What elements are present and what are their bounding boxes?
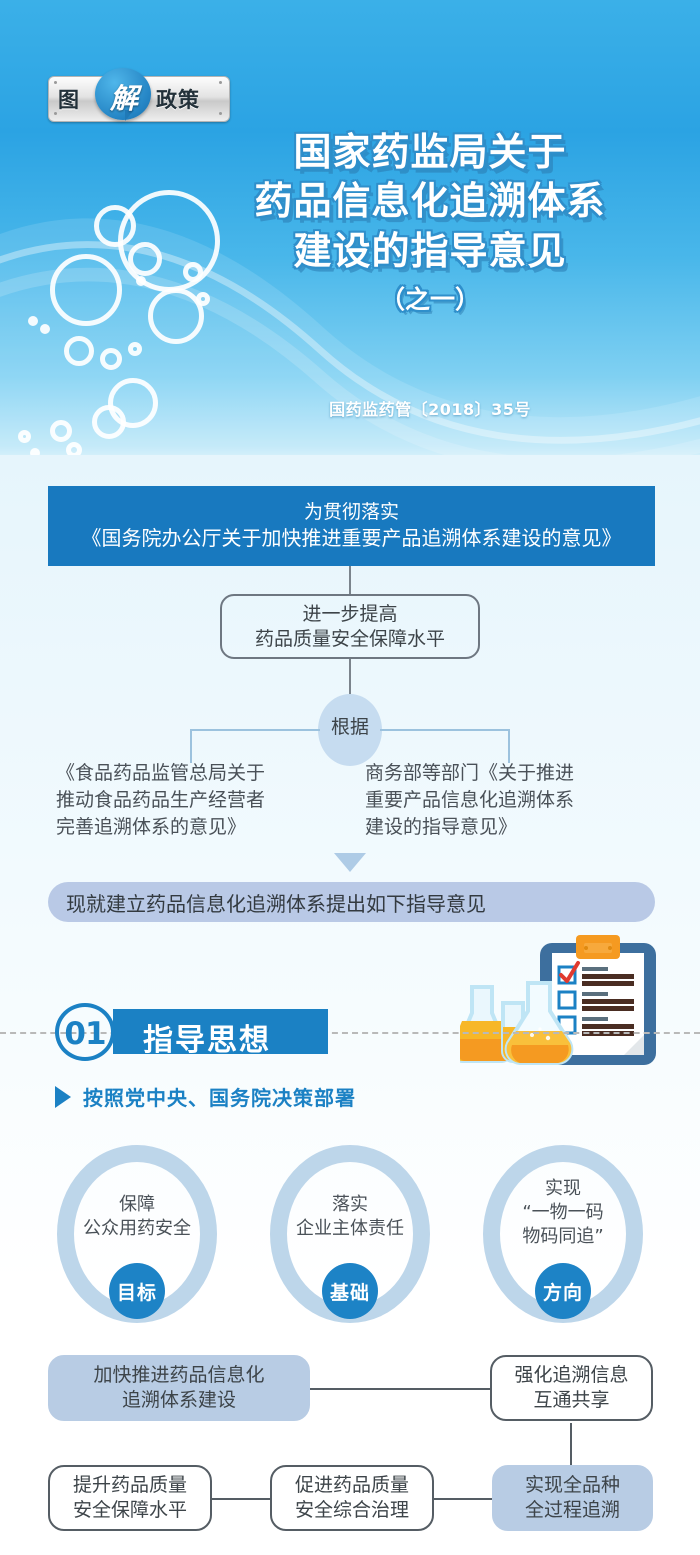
bubble-decoration [92,405,126,439]
circle-3-line-1: 实现 [483,1177,643,1201]
bubble-decoration [100,348,122,370]
branch-drop-left [190,729,192,763]
reference-document-2: 商务部等部门《关于推进 重要产品信息化追溯体系 建设的指导意见》 [365,760,665,841]
infographic-page: 图 政策 解 国家药监局关于 药品信息化追溯体系 建设的指导意见 （之一） 国药… [0,0,700,1555]
circle-badge-1: 目标 [109,1263,165,1319]
outcome-5-line-2: 全过程追溯 [525,1498,620,1523]
goal-box: 进一步提高 药品质量安全保障水平 [220,594,480,659]
circle-text-1: 保障 公众用药安全 [57,1193,217,1241]
content-body: 为贯彻落实 《国务院办公厅关于加快推进重要产品追溯体系建设的意见》 进一步提高 … [0,455,700,1555]
outcome-2-line-2: 互通共享 [514,1388,628,1413]
goal-box-line-1: 进一步提高 [255,602,445,627]
bubble-decoration [136,276,146,286]
section-bullet: 按照党中央、国务院决策部署 [55,1082,356,1111]
branch-line-left [190,729,320,731]
outcome-3-line-2: 安全保障水平 [73,1498,187,1523]
circle-text-2: 落实 企业主体责任 [270,1193,430,1241]
section-title: 指导思想 [143,1015,323,1059]
circle-1-line-2: 公众用药安全 [57,1217,217,1241]
conclusion-banner-text: 现就建立药品信息化追溯体系提出如下指导意见 [66,888,486,917]
circle-1-line-1: 保障 [57,1193,217,1217]
bubble-decoration [128,342,142,356]
connector-line [349,566,351,594]
circle-badge-2-label: 基础 [330,1278,370,1305]
circle-3-line-3: 物码同追” [483,1225,643,1249]
circle-text-3: 实现 “一物一码 物码同追” [483,1177,643,1248]
page-title-line-3: 建设的指导意见 [180,227,680,276]
logo-text-left: 图 [58,84,80,114]
tujie-zhengce-logo: 图 政策 解 [48,76,228,120]
outcome-box-4: 促进药品质量 安全综合治理 [270,1465,434,1531]
logo-screw [219,112,222,115]
lab-clipboard-illustration [460,935,670,1075]
logo-screw [54,112,57,115]
outcome-4-line-2: 安全综合治理 [295,1498,409,1523]
outcome-box-2: 强化追溯信息 互通共享 [490,1355,653,1421]
intent-banner: 为贯彻落实 《国务院办公厅关于加快推进重要产品追溯体系建设的意见》 [48,486,655,566]
outcome-connector-h2 [212,1498,272,1500]
bubble-decoration [64,336,94,366]
page-title: 国家药监局关于 药品信息化追溯体系 建设的指导意见 （之一） [180,128,680,316]
triangle-bullet-icon [55,1086,71,1108]
outcome-5-line-1: 实现全品种 [525,1473,620,1498]
section-bullet-text: 按照党中央、国务院决策部署 [83,1082,356,1111]
page-subtitle: （之一） [180,280,680,316]
outcome-1-line-1: 加快推进药品信息化 [93,1363,264,1388]
conclusion-banner: 现就建立药品信息化追溯体系提出如下指导意见 [48,882,655,922]
reference-2-line-1: 商务部等部门《关于推进 [365,760,665,787]
reference-2-line-2: 重要产品信息化追溯体系 [365,787,665,814]
bubble-decoration [40,324,50,334]
logo-text-bubble: 解 [105,77,143,117]
circle-badge-3-label: 方向 [543,1278,583,1305]
goal-box-line-2: 药品质量安全保障水平 [255,627,445,652]
bubble-decoration [28,316,38,326]
reference-2-line-3: 建设的指导意见》 [365,814,665,841]
outcome-box-3: 提升药品质量 安全保障水平 [48,1465,212,1531]
document-number: 国药监药管〔2018〕35号 [180,396,680,420]
outcome-1-line-2: 追溯体系建设 [93,1388,264,1413]
logo-text-right: 政策 [156,84,200,114]
circle-badge-2: 基础 [322,1263,378,1319]
bubble-decoration [94,205,136,247]
outcome-connector-h3 [434,1498,494,1500]
bubble-decoration [50,254,122,326]
page-title-line-1: 国家药监局关于 [180,128,680,177]
reference-document-1: 《食品药品监管总局关于 推动食品药品生产经营者 完善追溯体系的意见》 [56,760,356,841]
reference-1-line-3: 完善追溯体系的意见》 [56,814,356,841]
section-number: 01 [59,1016,111,1052]
intent-banner-line-2: 《国务院办公厅关于加快推进重要产品追溯体系建设的意见》 [82,525,622,552]
hero-header: 图 政策 解 国家药监局关于 药品信息化追溯体系 建设的指导意见 （之一） 国药… [0,0,700,470]
section-number-circle: 01 [55,1003,115,1061]
basis-label: 根据 [318,712,382,739]
outcome-3-line-1: 提升药品质量 [73,1473,187,1498]
outcome-connector-v1 [570,1423,572,1471]
circle-2-line-1: 落实 [270,1193,430,1217]
outcome-4-line-1: 促进药品质量 [295,1473,409,1498]
outcome-connector-h1 [310,1388,490,1390]
page-title-line-2: 药品信息化追溯体系 [180,177,680,226]
bubble-decoration [18,430,31,443]
reference-1-line-1: 《食品药品监管总局关于 [56,760,356,787]
bubble-decoration [128,242,162,276]
circle-badge-1-label: 目标 [117,1278,157,1305]
outcome-box-5: 实现全品种 全过程追溯 [492,1465,653,1531]
reference-1-line-2: 推动食品药品生产经营者 [56,787,356,814]
branch-line-right [380,729,510,731]
circle-3-line-2: “一物一码 [483,1201,643,1225]
outcome-2-line-1: 强化追溯信息 [514,1363,628,1388]
branch-drop-right [508,729,510,763]
logo-screw [54,81,57,84]
circle-badge-3: 方向 [535,1263,591,1319]
down-arrow-icon [334,853,366,872]
intent-banner-line-1: 为贯彻落实 [82,500,622,526]
logo-screw [219,81,222,84]
bubble-decoration [50,420,72,442]
circle-2-line-2: 企业主体责任 [270,1217,430,1241]
connector-line [349,659,351,695]
outcome-box-1: 加快推进药品信息化 追溯体系建设 [48,1355,310,1421]
